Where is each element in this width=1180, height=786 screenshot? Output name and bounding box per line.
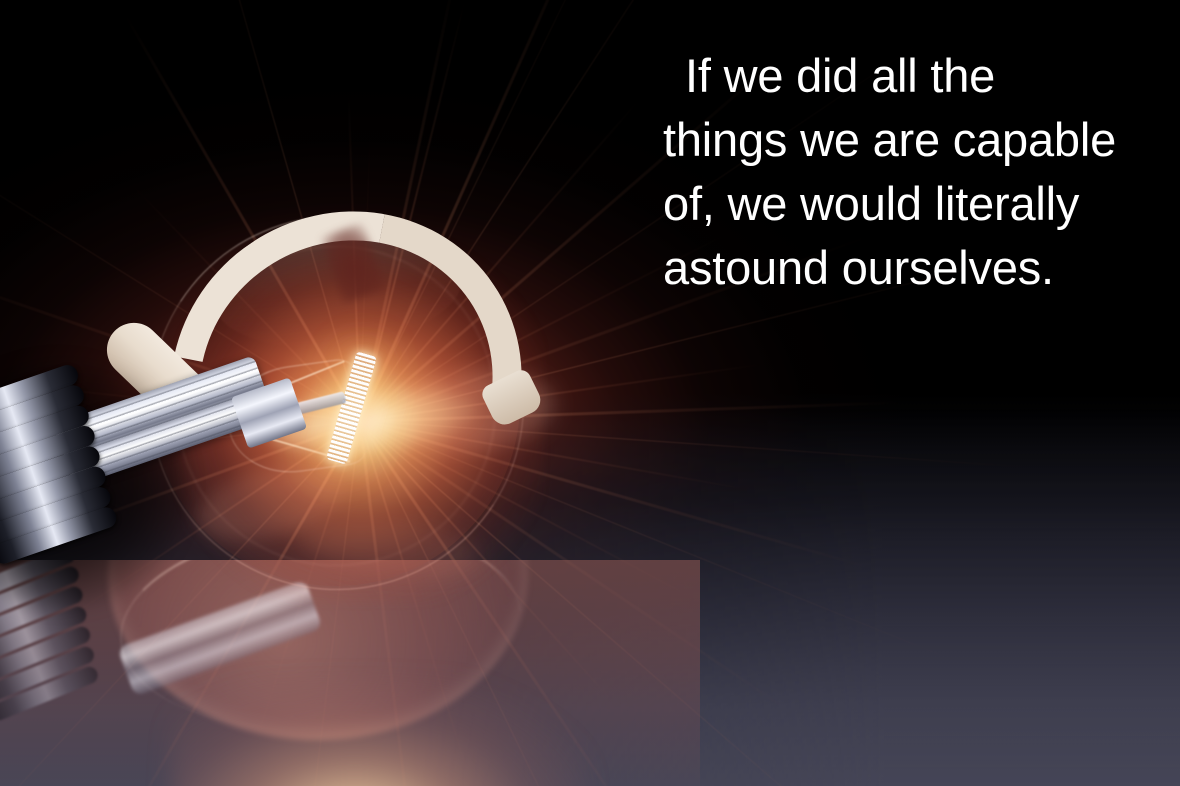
reflection-glow [170, 680, 590, 786]
quote-line-1: If we did all the [663, 44, 1143, 108]
quote-line-4: astound ourselves. [663, 236, 1143, 300]
quote-slide: If we did all the things we are capable … [0, 0, 1180, 786]
quote-line-2: things we are capable [663, 108, 1143, 172]
light-bulb [0, 0, 700, 620]
quote-text-block: If we did all the things we are capable … [663, 44, 1143, 300]
quote-line-3: of, we would literally [663, 172, 1143, 236]
